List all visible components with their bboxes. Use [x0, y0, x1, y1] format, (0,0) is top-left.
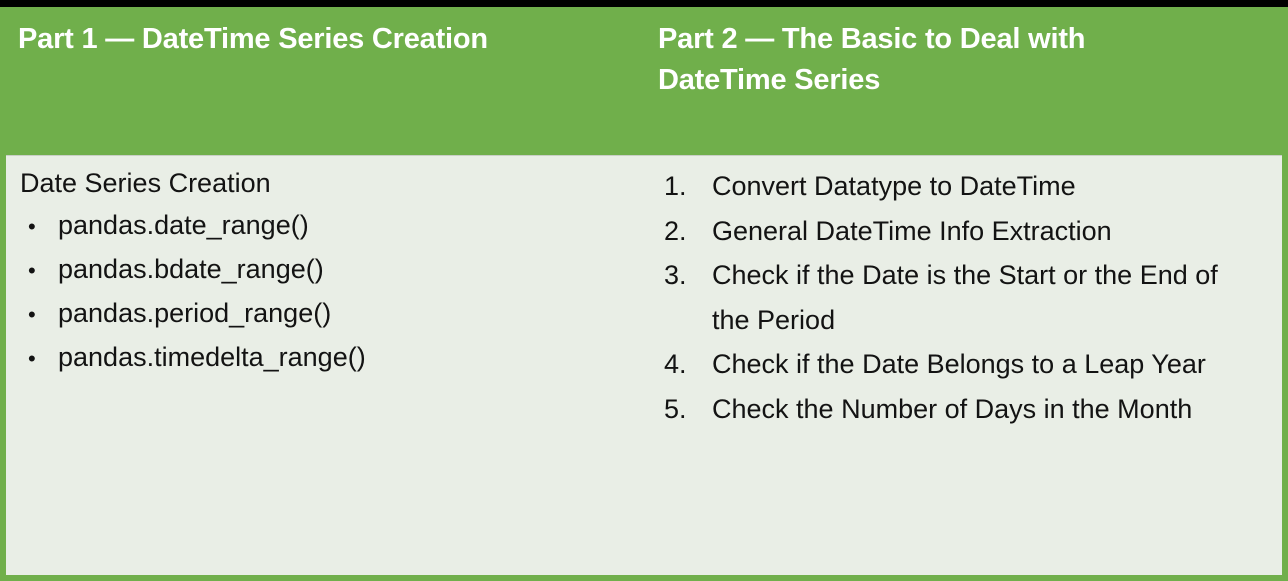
list-item-label: Check if the Date Belongs to a Leap Year — [712, 342, 1252, 387]
list-item: 1. Convert Datatype to DateTime — [658, 164, 1272, 209]
list-item: • pandas.timedelta_range() — [18, 335, 636, 379]
table-body-row: Date Series Creation • pandas.date_range… — [6, 155, 1282, 575]
bullet-icon: • — [18, 348, 58, 370]
bullet-icon: • — [18, 216, 58, 238]
list-item-number: 4. — [658, 342, 712, 387]
list-item: 4. Check if the Date Belongs to a Leap Y… — [658, 342, 1272, 387]
list-item: • pandas.bdate_range() — [18, 247, 636, 291]
list-item-number: 1. — [658, 164, 712, 209]
list-item-label: Check if the Date is the Start or the En… — [712, 253, 1252, 342]
list-item-number: 3. — [658, 253, 712, 298]
list-item: • pandas.date_range() — [18, 203, 636, 247]
table-header-row: Part 1 — DateTime Series Creation Part 2… — [6, 7, 1282, 155]
bullet-icon: • — [18, 304, 58, 326]
list-item-label: Convert Datatype to DateTime — [712, 164, 1252, 209]
slide-canvas: Part 1 — DateTime Series Creation Part 2… — [0, 0, 1288, 581]
body-cell-part-2: 1. Convert Datatype to DateTime 2. Gener… — [646, 156, 1282, 575]
list-item-label: pandas.period_range() — [58, 291, 636, 335]
list-item: 3. Check if the Date is the Start or the… — [658, 253, 1272, 342]
two-column-table: Part 1 — DateTime Series Creation Part 2… — [0, 7, 1288, 581]
list-item-number: 2. — [658, 209, 712, 254]
date-series-creation-heading: Date Series Creation — [20, 166, 636, 201]
body-cell-part-1: Date Series Creation • pandas.date_range… — [6, 156, 646, 575]
list-item: 5. Check the Number of Days in the Month — [658, 387, 1272, 432]
top-black-strip — [0, 0, 1288, 7]
list-item-label: pandas.timedelta_range() — [58, 335, 636, 379]
part-1-title: Part 1 — DateTime Series Creation — [18, 19, 632, 60]
bullet-icon: • — [18, 260, 58, 282]
header-cell-part-2: Part 2 — The Basic to Deal with DateTime… — [646, 7, 1282, 155]
list-item: 2. General DateTime Info Extraction — [658, 209, 1272, 254]
datetime-task-list: 1. Convert Datatype to DateTime 2. Gener… — [658, 164, 1272, 431]
list-item-label: pandas.bdate_range() — [58, 247, 636, 291]
list-item: • pandas.period_range() — [18, 291, 636, 335]
header-cell-part-1: Part 1 — DateTime Series Creation — [6, 7, 646, 155]
part-2-title: Part 2 — The Basic to Deal with DateTime… — [658, 19, 1158, 101]
list-item-label: pandas.date_range() — [58, 203, 636, 247]
pandas-function-list: • pandas.date_range() • pandas.bdate_ran… — [18, 203, 636, 379]
list-item-label: Check the Number of Days in the Month — [712, 387, 1252, 432]
list-item-label: General DateTime Info Extraction — [712, 209, 1252, 254]
list-item-number: 5. — [658, 387, 712, 432]
